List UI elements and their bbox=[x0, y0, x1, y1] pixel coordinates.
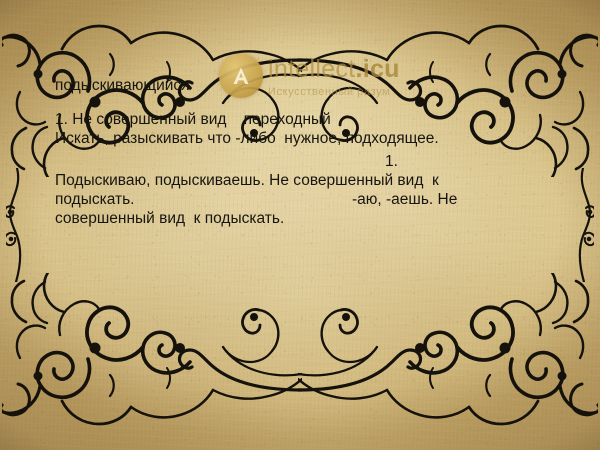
sense-number: 1. bbox=[385, 152, 398, 171]
article-content: подыскивающийся 1. Не совершенный вид пе… bbox=[0, 0, 600, 450]
headword: подыскивающийся bbox=[55, 76, 190, 95]
article-line-1: 1. Не совершенный вид переходный bbox=[55, 110, 331, 129]
definition-line-2: подыскать. bbox=[55, 190, 135, 209]
inflection-text: -аю, -аешь. Не bbox=[352, 190, 457, 209]
article-line-2: Искать, разыскивать что -либо нужное, по… bbox=[55, 129, 439, 148]
parchment-page: intellect.icu Искусственный разум подыск… bbox=[0, 0, 600, 450]
definition-line-1: Подыскиваю, подыскиваешь. Не совершенный… bbox=[55, 171, 439, 190]
definition-line-3: совершенный вид к подыскать. bbox=[55, 209, 284, 228]
